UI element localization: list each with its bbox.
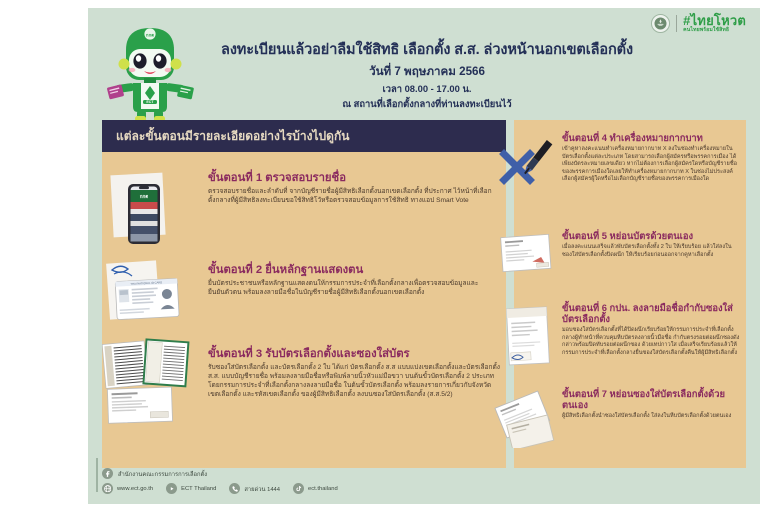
step-7-body: ผู้มีสิทธิเลือกตั้งนำซองใส่บัตรเลือกตั้ง… xyxy=(562,413,740,420)
title-date: วันที่ 7 พฤษภาคม 2566 xyxy=(192,63,662,81)
youtube-icon[interactable] xyxy=(166,483,177,494)
footer-facebook-label: สำนักงานคณะกรรมการการเลือกตั้ง xyxy=(118,469,207,479)
footer-links-row: www.ect.go.th ECT Thailand สายด่วน 1444 … xyxy=(102,483,662,494)
step-4-body: เข้าคูหาลงคะแนนทำเครื่องหมายกากบาท X ลงใ… xyxy=(562,146,738,183)
footer-facebook-row[interactable]: สำนักงานคณะกรรมการการเลือกตั้ง xyxy=(102,468,662,479)
step-6-title: ขั้นตอนที่ 6 กปน. ลงลายมือชื่อกำกับซองใส… xyxy=(562,302,740,324)
phone-icon[interactable] xyxy=(229,483,240,494)
pen-x-mark-icon xyxy=(490,136,558,200)
step-6-body: มอบซองใส่บัตรเลือกตั้งที่ได้ปิดผนึกเรียบ… xyxy=(562,327,740,357)
svg-text:กกต: กกต xyxy=(146,33,154,38)
step-1: ขั้นตอนที่ 1 ตรวจสอบรายชื่อ ตรวจสอบรายชื… xyxy=(208,172,494,206)
id-card-signature-icon: THAI NATIONAL ID CARD xyxy=(104,258,202,332)
brand-logo-group: #ไทยโหวต คนไทยพร้อมใช้สิทธิ xyxy=(651,14,746,33)
hashtag-block: #ไทยโหวต คนไทยพร้อมใช้สิทธิ xyxy=(683,14,746,33)
facebook-icon[interactable] xyxy=(102,468,113,479)
signed-envelope-icon xyxy=(496,302,558,374)
step-6: ขั้นตอนที่ 6 กปน. ลงลายมือชื่อกำกับซองใส… xyxy=(562,302,740,357)
step-1-body: ตรวจสอบรายชื่อและลำดับที่ จากบัญชีรายชื่… xyxy=(208,188,494,206)
ect-mascot-icon: กกต xyxy=(100,20,200,128)
footer-hotline-label[interactable]: สายด่วน 1444 xyxy=(244,484,280,494)
step-4: ขั้นตอนที่ 4 ทำเครื่องหมายกากบาท เข้าคูห… xyxy=(562,132,738,184)
hashtag-text: #ไทยโหวต xyxy=(683,14,746,27)
footer-divider xyxy=(96,458,98,492)
title-line-1: ลงทะเบียนแล้วอย่าลืมใช้สิทธิ เลือกตั้ง ส… xyxy=(192,38,662,61)
title-location: ณ สถานที่เลือกตั้งกลางที่ท่านลงทะเบียนไว… xyxy=(192,97,662,112)
footer-website-label[interactable]: www.ect.go.th xyxy=(117,486,153,492)
step-1-title: ขั้นตอนที่ 1 ตรวจสอบรายชื่อ xyxy=(208,172,494,185)
section-banner: แต่ละขั้นตอนมีรายละเอียดอย่างไรบ้างไปดูก… xyxy=(102,120,506,152)
step-3-title: ขั้นตอนที่ 3 รับบัตรเลือกตั้งและซองใส่บั… xyxy=(208,348,500,361)
title-time: เวลา 08.00 - 17.00 น. xyxy=(192,82,662,97)
ballot-box-drop-icon xyxy=(492,386,556,448)
hashtag-subtitle: คนไทยพร้อมใช้สิทธิ xyxy=(683,28,746,33)
step-4-title: ขั้นตอนที่ 4 ทำเครื่องหมายกากบาท xyxy=(562,132,738,143)
steps-panel-left: กกต THAI NAT xyxy=(102,152,506,468)
footer-tiktok-label[interactable]: ect.thailand xyxy=(308,486,338,492)
section-banner-label: แต่ละขั้นตอนมีรายละเอียดอย่างไรบ้างไปดูก… xyxy=(116,127,349,146)
svg-text:กกต: กกต xyxy=(140,194,149,199)
globe-icon[interactable] xyxy=(102,483,113,494)
envelope-ballot-icon xyxy=(496,226,558,286)
tiktok-icon[interactable] xyxy=(293,483,304,494)
step-5-body: เมื่อลงคะแนนเสร็จแล้วพับบัตรเลือกตั้งทั้… xyxy=(562,244,738,259)
infographic-canvas: #ไทยโหวต คนไทยพร้อมใช้สิทธิ กกต xyxy=(88,8,760,504)
title-part-a: ลงทะเบียนแล้วอย่าลืมใช้สิทธิ xyxy=(221,42,403,58)
svg-text:ECT: ECT xyxy=(146,100,154,104)
step-3: ขั้นตอนที่ 3 รับบัตรเลือกตั้งและซองใส่บั… xyxy=(208,348,500,400)
step-2-title: ขั้นตอนที่ 2 ยื่นหลักฐานแสดงตน xyxy=(208,264,494,277)
ballot-papers-envelope-icon xyxy=(102,338,206,430)
step-3-body: รับซองใส่บัตรเลือกตั้ง และบัตรเลือกตั้ง … xyxy=(208,364,500,399)
government-seal-icon xyxy=(651,14,670,33)
logo-divider xyxy=(676,15,677,32)
smartphone-document-icon: กกต xyxy=(106,166,204,252)
infographic-page: #ไทยโหวต คนไทยพร้อมใช้สิทธิ กกต xyxy=(0,0,768,512)
step-5-title: ขั้นตอนที่ 5 หย่อนบัตรด้วยตนเอง xyxy=(562,230,738,241)
step-7-title: ขั้นตอนที่ 7 หย่อนซองใส่บัตรเลือกตั้งด้ว… xyxy=(562,388,740,410)
footer-youtube-label[interactable]: ECT Thailand xyxy=(181,486,216,492)
footer: สำนักงานคณะกรรมการการเลือกตั้ง www.ect.g… xyxy=(102,468,662,494)
title-part-b: เลือกตั้ง ส.ส. ล่วงหน้านอกเขตเลือกตั้ง xyxy=(403,42,633,58)
step-2: ขั้นตอนที่ 2 ยื่นหลักฐานแสดงตน ยื่นบัตรป… xyxy=(208,264,494,298)
step-7: ขั้นตอนที่ 7 หย่อนซองใส่บัตรเลือกตั้งด้ว… xyxy=(562,388,740,421)
step-2-body: ยื่นบัตรประชาชนหรือหลักฐานแสดงตนให้กรรมก… xyxy=(208,280,494,298)
steps-panel-right: ขั้นตอนที่ 4 ทำเครื่องหมายกากบาท เข้าคูห… xyxy=(514,120,746,468)
step-5: ขั้นตอนที่ 5 หย่อนบัตรด้วยตนเอง เมื่อลงค… xyxy=(562,230,738,259)
page-title: ลงทะเบียนแล้วอย่าลืมใช้สิทธิ เลือกตั้ง ส… xyxy=(192,38,662,112)
